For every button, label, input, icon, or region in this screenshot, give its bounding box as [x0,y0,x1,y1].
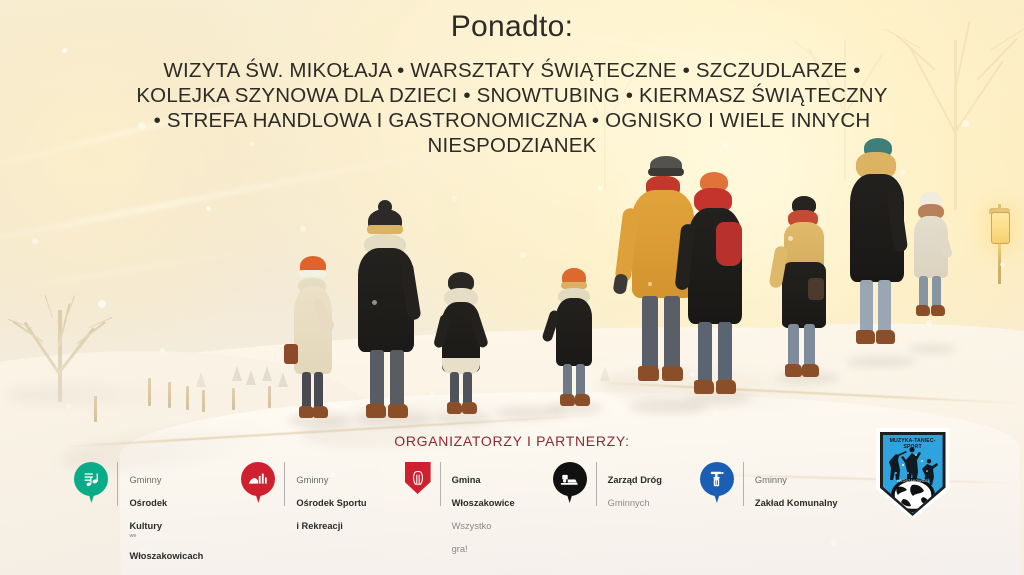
logo-zarzad-drog-gminnych[interactable]: Zarząd Dróg Gminnych [553,462,662,509]
figure-child-2 [434,272,492,428]
logo-line-4: gra! [452,544,468,554]
logo-divider [596,462,597,506]
logo-line-1: Gminny [129,475,161,485]
fence-post [94,396,97,422]
logo-line-4: Włoszakowicach [129,551,203,561]
logo-line-2: Ośrodek Sportu [296,498,366,508]
logo-line-1: Zarząd Dróg [608,475,662,485]
crest-title: MUZYKA-TANIEC-SPORT [883,438,943,450]
fence-post [268,386,271,408]
logo-muzyka-taniec-sport[interactable]: MUZYKA-TANIEC-SPORT WŁOSZAKOWICE [876,428,950,520]
fence-post [186,386,189,410]
globe-dancers-shield-icon: MUZYKA-TANIEC-SPORT WŁOSZAKOWICE [876,428,950,520]
fence-post [232,388,235,410]
logo-line-tiny: we [129,533,203,540]
logo-divider [440,462,441,506]
tree-snow-base [8,384,178,406]
crest-caption: WŁOSZAKOWICE [883,479,943,483]
music-notes-pin-icon [74,462,108,504]
logo-line-1: Gmina [452,475,481,485]
figure-child-left [282,256,348,426]
logo-text: Gminny Zakład Komunalny [755,462,838,509]
logo-line-3: Kultury [129,521,162,531]
street-lantern-icon [988,208,1012,284]
bulldozer-pin-icon [553,462,587,504]
logo-gminny-osrodek-sportu-i-rekreacji[interactable]: Gminny Ośrodek Sportu i Rekreacji [241,462,366,533]
warm-glow-left [0,0,310,370]
conifer-icon [196,372,206,387]
logo-divider [284,462,285,506]
conifer-icon [278,372,288,387]
logo-line-3: Wszystko [452,521,492,531]
poster-canvas: Ponadto: WIZYTA ŚW. MIKOŁAJA • WARSZTATY… [0,0,1024,575]
logo-line-1: Gminny [296,475,328,485]
logo-text: Zarząd Dróg Gminnych [608,462,662,509]
faucet-pin-icon [700,462,734,504]
figure-child-3 [548,268,604,420]
figure-adult-4 [774,196,836,398]
logo-text: Gminny Ośrodek Sportu i Rekreacji [296,462,366,533]
partner-logo-row: Gminny Ośrodek Kultury we Włoszakowicach [0,462,1024,552]
fence-post [202,390,205,412]
partners-heading: ORGANIZATORZY I PARTNERZY: [0,433,1024,449]
snow-shadow [599,364,841,417]
logo-line-2: Włoszakowice [452,498,515,508]
fence-post [148,378,151,406]
logo-divider [743,462,744,506]
figure-adult-3 [678,172,752,416]
logo-line-2: Zakład Komunalny [755,498,838,508]
figure-adult-1 [352,200,430,426]
light-ray [0,242,298,296]
logo-gminny-osrodek-kultury[interactable]: Gminny Ośrodek Kultury we Włoszakowicach [74,462,203,563]
bare-tree-icon [18,300,148,400]
logo-line-2: Ośrodek [129,498,167,508]
conifer-icon [232,366,242,381]
logo-text: Gmina Włoszakowice Wszystko gra! [452,462,515,556]
figure-adult-2 [618,156,704,418]
logo-line-3: i Rekreacji [296,521,343,531]
light-ray [0,146,456,250]
logo-line-1: Gminny [755,475,787,485]
figure-child-4 [906,192,958,358]
logo-line-2: Gminnych [608,498,650,508]
conifer-icon [246,370,256,385]
logo-text: Gminny Ośrodek Kultury we Włoszakowicach [129,462,203,563]
fence-post [168,382,171,408]
conifer-icon [600,366,610,381]
logo-divider [117,462,118,506]
stadium-pin-icon [241,462,275,504]
page-title: Ponadto: [0,10,1024,44]
lyre-shield-icon [405,462,431,494]
logo-gmina-wloszakowice[interactable]: Gmina Włoszakowice Wszystko gra! [405,462,515,556]
attractions-list: WIZYTA ŚW. MIKOŁAJA • WARSZTATY ŚWIĄTECZ… [0,58,1024,158]
logo-gminny-zaklad-komunalny[interactable]: Gminny Zakład Komunalny [700,462,838,509]
path-edge [600,382,1020,405]
figure-adult-5 [840,138,914,372]
conifer-icon [262,366,272,381]
